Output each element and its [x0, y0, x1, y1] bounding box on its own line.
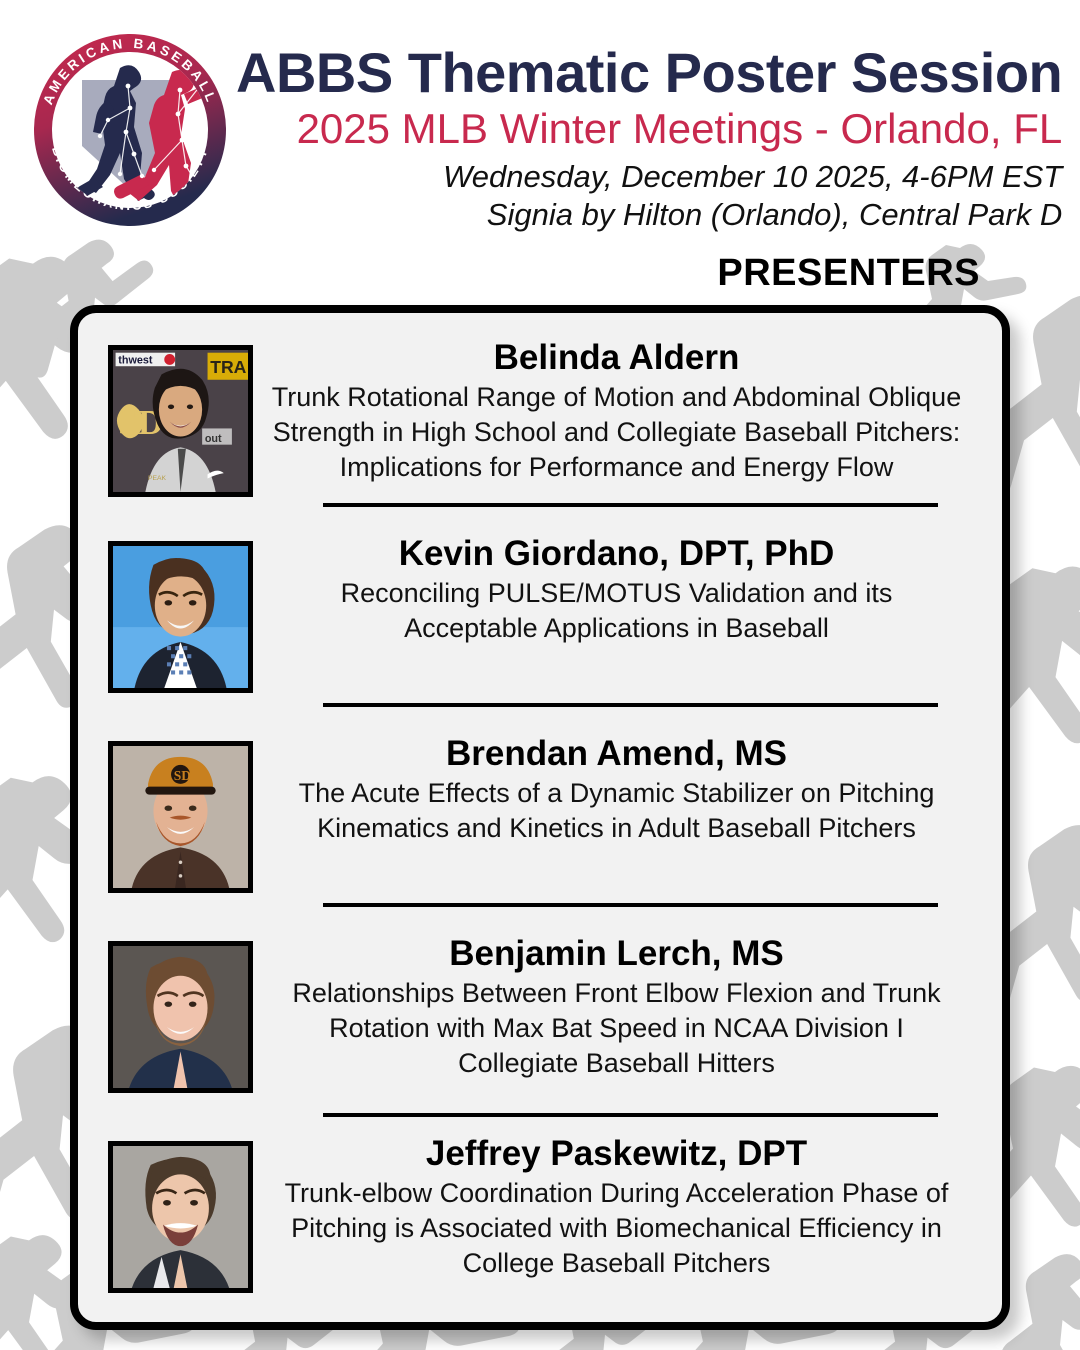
- row-divider: [323, 503, 938, 507]
- presenter-photo-jeffrey-paskewitz: [108, 1141, 253, 1293]
- presenter-abstract-title: Trunk-elbow Coordination During Accelera…: [271, 1176, 962, 1281]
- presenter-name: Brendan Amend, MS: [271, 733, 962, 774]
- presenter-name: Jeffrey Paskewitz, DPT: [271, 1133, 962, 1174]
- presenter-info: Brendan Amend, MS The Acute Effects of a…: [253, 733, 1002, 846]
- presenter-info: Benjamin Lerch, MS Relationships Between…: [253, 933, 1002, 1082]
- presenter-abstract-title: Relationships Between Front Elbow Flexio…: [271, 976, 962, 1081]
- presenter-name: Benjamin Lerch, MS: [271, 933, 962, 974]
- presenter-info: Kevin Giordano, DPT, PhD Reconciling PUL…: [253, 533, 1002, 646]
- presenter-name: Belinda Aldern: [271, 337, 962, 378]
- presenter-info: Belinda Aldern Trunk Rotational Range of…: [253, 337, 1002, 486]
- event-datetime: Wednesday, December 10 2025, 4-6PM EST: [236, 158, 1062, 196]
- presenter-abstract-title: Reconciling PULSE/MOTUS Validation and i…: [271, 576, 962, 646]
- presenter-row: Jeffrey Paskewitz, DPT Trunk-elbow Coord…: [78, 1123, 1002, 1323]
- abbs-logo: AMERICAN BASEBALL BIOMECHANICS SOCIETY: [24, 24, 236, 236]
- svg-text:thwest: thwest: [118, 355, 153, 367]
- presenter-photo-kevin-giordano: [108, 541, 253, 693]
- event-venue: Signia by Hilton (Orlando), Central Park…: [236, 196, 1062, 234]
- presenter-row: SD Brendan Amend, MS The Acute Effects o…: [78, 723, 1002, 923]
- row-divider: [323, 703, 938, 707]
- presenter-abstract-title: Trunk Rotational Range of Motion and Abd…: [271, 380, 962, 485]
- presenter-photo-benjamin-lerch: [108, 941, 253, 1093]
- row-divider: [323, 1113, 938, 1117]
- presenter-photo-belinda-aldern: thwest TRA SD out: [108, 345, 253, 497]
- presenter-photo-brendan-amend: SD: [108, 741, 253, 893]
- svg-text:PEAK: PEAK: [148, 475, 167, 482]
- presenters-card: thwest TRA SD out: [70, 305, 1010, 1330]
- presenter-info: Jeffrey Paskewitz, DPT Trunk-elbow Coord…: [253, 1133, 1002, 1282]
- poster-header: AMERICAN BASEBALL BIOMECHANICS SOCIETY: [0, 0, 1080, 250]
- page-subtitle: 2025 MLB Winter Meetings - Orlando, FL: [236, 105, 1062, 152]
- svg-text:out: out: [205, 433, 222, 445]
- presenter-abstract-title: The Acute Effects of a Dynamic Stabilize…: [271, 776, 962, 846]
- title-block: ABBS Thematic Poster Session 2025 MLB Wi…: [236, 18, 1080, 234]
- page-title: ABBS Thematic Poster Session: [236, 44, 1062, 101]
- svg-text:SD: SD: [174, 768, 192, 783]
- presenters-section-heading: PRESENTERS: [717, 252, 980, 295]
- row-divider: [323, 903, 938, 907]
- presenter-row: Kevin Giordano, DPT, PhD Reconciling PUL…: [78, 523, 1002, 723]
- svg-text:TRA: TRA: [210, 357, 246, 377]
- poster-canvas: AMERICAN BASEBALL BIOMECHANICS SOCIETY: [0, 0, 1080, 1350]
- presenter-row: Benjamin Lerch, MS Relationships Between…: [78, 923, 1002, 1123]
- presenter-row: thwest TRA SD out: [78, 327, 1002, 523]
- presenter-name: Kevin Giordano, DPT, PhD: [271, 533, 962, 574]
